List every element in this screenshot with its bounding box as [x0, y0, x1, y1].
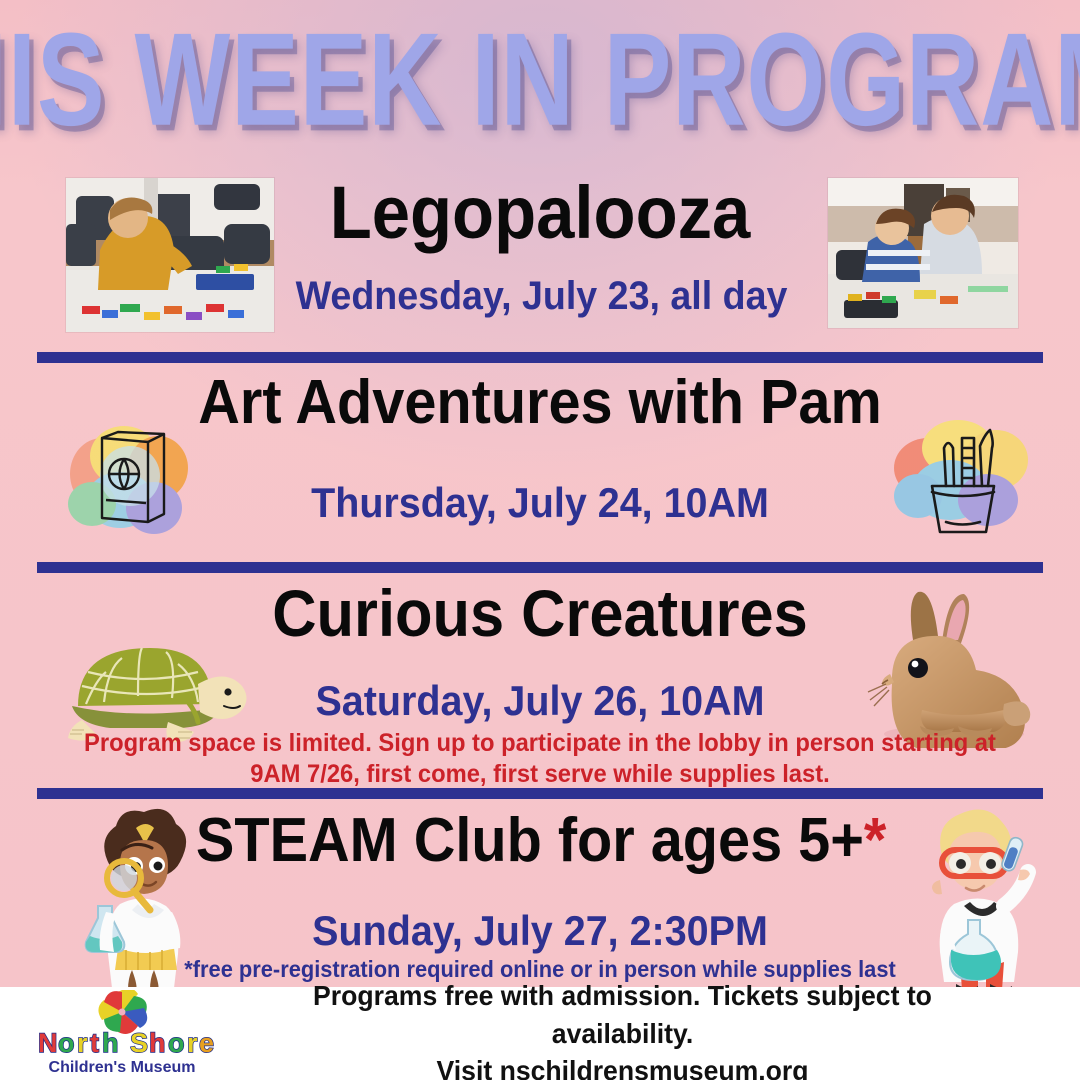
- program-row-legopalooza: Legopalooza Wednesday, July 23, all day: [0, 172, 1080, 344]
- svg-text:h: h: [149, 1028, 166, 1058]
- program-title-art-adventures: Art Adventures with Pam: [159, 372, 922, 434]
- program-title-steam-club: STEAM Club for ages 5+*: [196, 810, 884, 872]
- photo-child-and-adult-building-legos: [828, 178, 1018, 328]
- program-date-art-adventures: Thursday, July 24, 10AM: [155, 482, 926, 524]
- rabbit-illustration: [862, 588, 1042, 748]
- footer-line-2: Visit nschildrensmuseum.org: [243, 1052, 1001, 1080]
- program-date-steam-club: Sunday, July 27, 2:30PM: [192, 910, 888, 952]
- section-divider-3: [37, 788, 1043, 799]
- footer-bar: N o r t h S h o r e Children's Museum Pr…: [0, 987, 1080, 1080]
- footer-info-text: Programs free with admission. Tickets su…: [243, 977, 1058, 1080]
- north-shore-childrens-museum-logo: N o r t h S h o r e Children's Museum: [22, 990, 222, 1078]
- poster-title-banner: THIS WEEK IN PROGRAMS: [0, 16, 1080, 144]
- svg-text:S: S: [130, 1028, 148, 1058]
- poster-canvas: THIS WEEK IN PROGRAMS: [0, 0, 1080, 1080]
- program-date-legopalooza: Wednesday, July 23, all day: [296, 276, 785, 316]
- program-row-art-adventures: Art Adventures with Pam Thursday, July 2…: [0, 370, 1080, 550]
- program-date-curious-creatures: Saturday, July 26, 10AM: [239, 680, 841, 722]
- asterisk-marker: *: [864, 806, 886, 875]
- svg-text:o: o: [168, 1028, 185, 1058]
- program-title-curious-creatures: Curious Creatures: [242, 580, 837, 646]
- watercolor-art-supplies-cup-icon: [888, 412, 1038, 542]
- program-title-steam-text: STEAM Club for ages 5+: [196, 806, 864, 875]
- program-row-steam-club: STEAM Club for ages 5+* Sunday, July 27,…: [0, 804, 1080, 988]
- svg-text:r: r: [187, 1028, 198, 1058]
- svg-text:o: o: [58, 1028, 75, 1058]
- svg-text:r: r: [77, 1028, 88, 1058]
- section-divider-2: [37, 562, 1043, 573]
- program-note-curious-creatures: Program space is limited. Sign up to par…: [84, 728, 996, 789]
- footer-line-1: Programs free with admission. Tickets su…: [243, 977, 1001, 1053]
- svg-text:N: N: [38, 1028, 58, 1058]
- svg-text:e: e: [199, 1028, 214, 1058]
- svg-text:t: t: [90, 1028, 99, 1058]
- svg-text:Children's Museum: Children's Museum: [49, 1059, 196, 1076]
- program-row-curious-creatures: Curious Creatures Saturday, July 26, 10A…: [0, 580, 1080, 780]
- photo-child-building-legos: [66, 178, 274, 332]
- svg-text:h: h: [102, 1028, 119, 1058]
- page-title: THIS WEEK IN PROGRAMS: [0, 14, 1080, 146]
- program-title-legopalooza: Legopalooza: [298, 176, 782, 250]
- section-divider-1: [37, 352, 1043, 363]
